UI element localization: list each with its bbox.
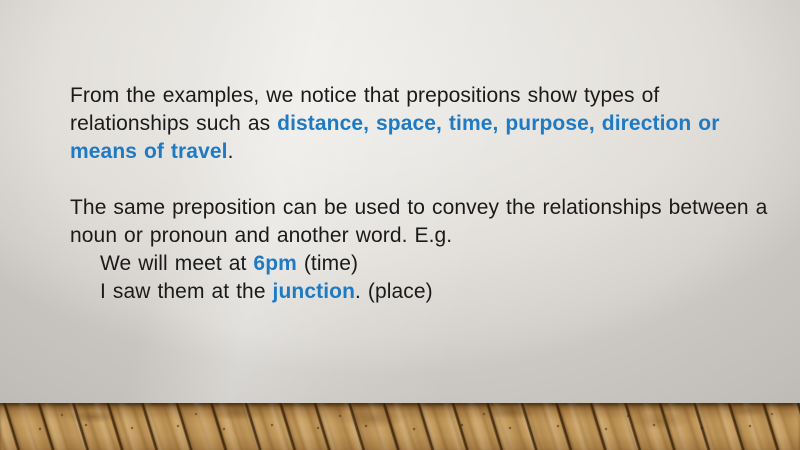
paragraph-one: From the examples, we notice that prepos… xyxy=(70,82,770,166)
paragraph-one-tail: . xyxy=(228,140,234,163)
example-two-lead: I saw them at the xyxy=(100,280,273,303)
example-one-highlight: 6pm xyxy=(253,252,296,275)
example-two-highlight: junction xyxy=(273,280,355,303)
example-one-lead: We will meet at xyxy=(100,252,253,275)
paragraph-two-text: The same preposition can be used to conv… xyxy=(70,196,767,247)
paragraph-two: The same preposition can be used to conv… xyxy=(70,194,770,250)
example-line-time: We will meet at 6pm (time) xyxy=(70,250,770,278)
wooden-floor xyxy=(0,403,800,450)
example-one-tail: (time) xyxy=(297,252,358,275)
example-line-place: I saw them at the junction. (place) xyxy=(70,278,770,306)
example-two-tail: . (place) xyxy=(355,280,433,303)
slide-body-text: From the examples, we notice that prepos… xyxy=(70,82,770,306)
floor-shading-overlay xyxy=(0,403,800,450)
slide: From the examples, we notice that prepos… xyxy=(0,0,800,450)
